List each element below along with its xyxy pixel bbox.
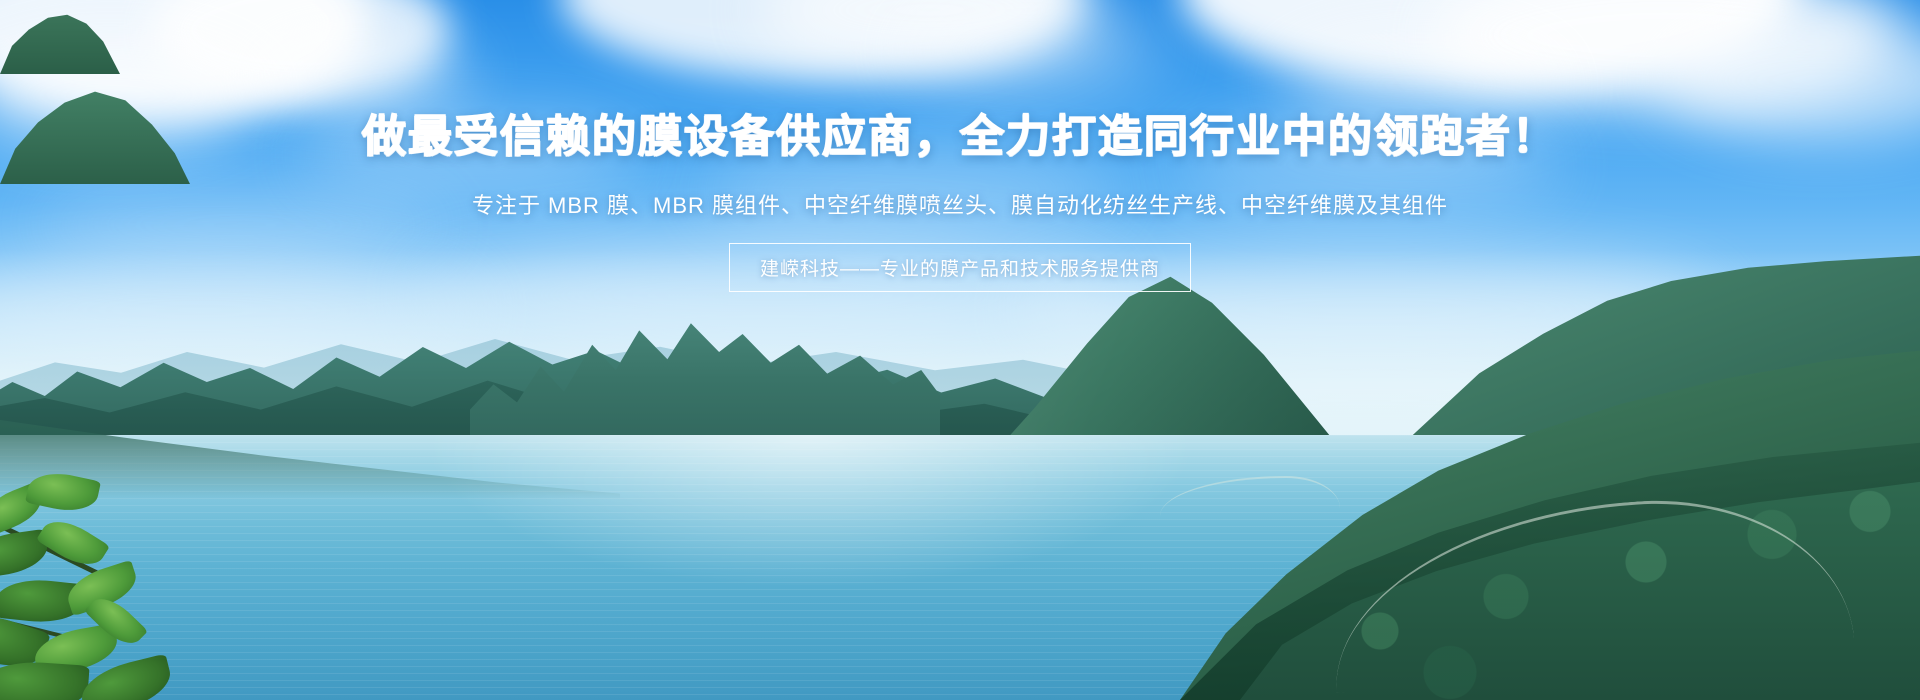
- leaf-shape: [36, 511, 110, 575]
- banner-subtitle: 专注于 MBR 膜、MBR 膜组件、中空纤维膜喷丝头、膜自动化纺丝生产线、中空纤…: [0, 188, 1920, 220]
- leaf-shape: [0, 658, 90, 700]
- banner-tagline-container: 建嵘科技——专业的膜产品和技术服务提供商: [0, 243, 1920, 292]
- hero-banner: 做最受信赖的膜设备供应商，全力打造同行业中的领跑者！ 专注于 MBR 膜、MBR…: [0, 0, 1920, 700]
- cloud-shape: [900, 10, 1160, 90]
- foreground-foliage: [0, 430, 310, 700]
- banner-headline: 做最受信赖的膜设备供应商，全力打造同行业中的领跑者！: [0, 100, 1920, 164]
- banner-tagline: 建嵘科技——专业的膜产品和技术服务提供商: [729, 243, 1191, 292]
- water-sun-glow: [430, 435, 1190, 585]
